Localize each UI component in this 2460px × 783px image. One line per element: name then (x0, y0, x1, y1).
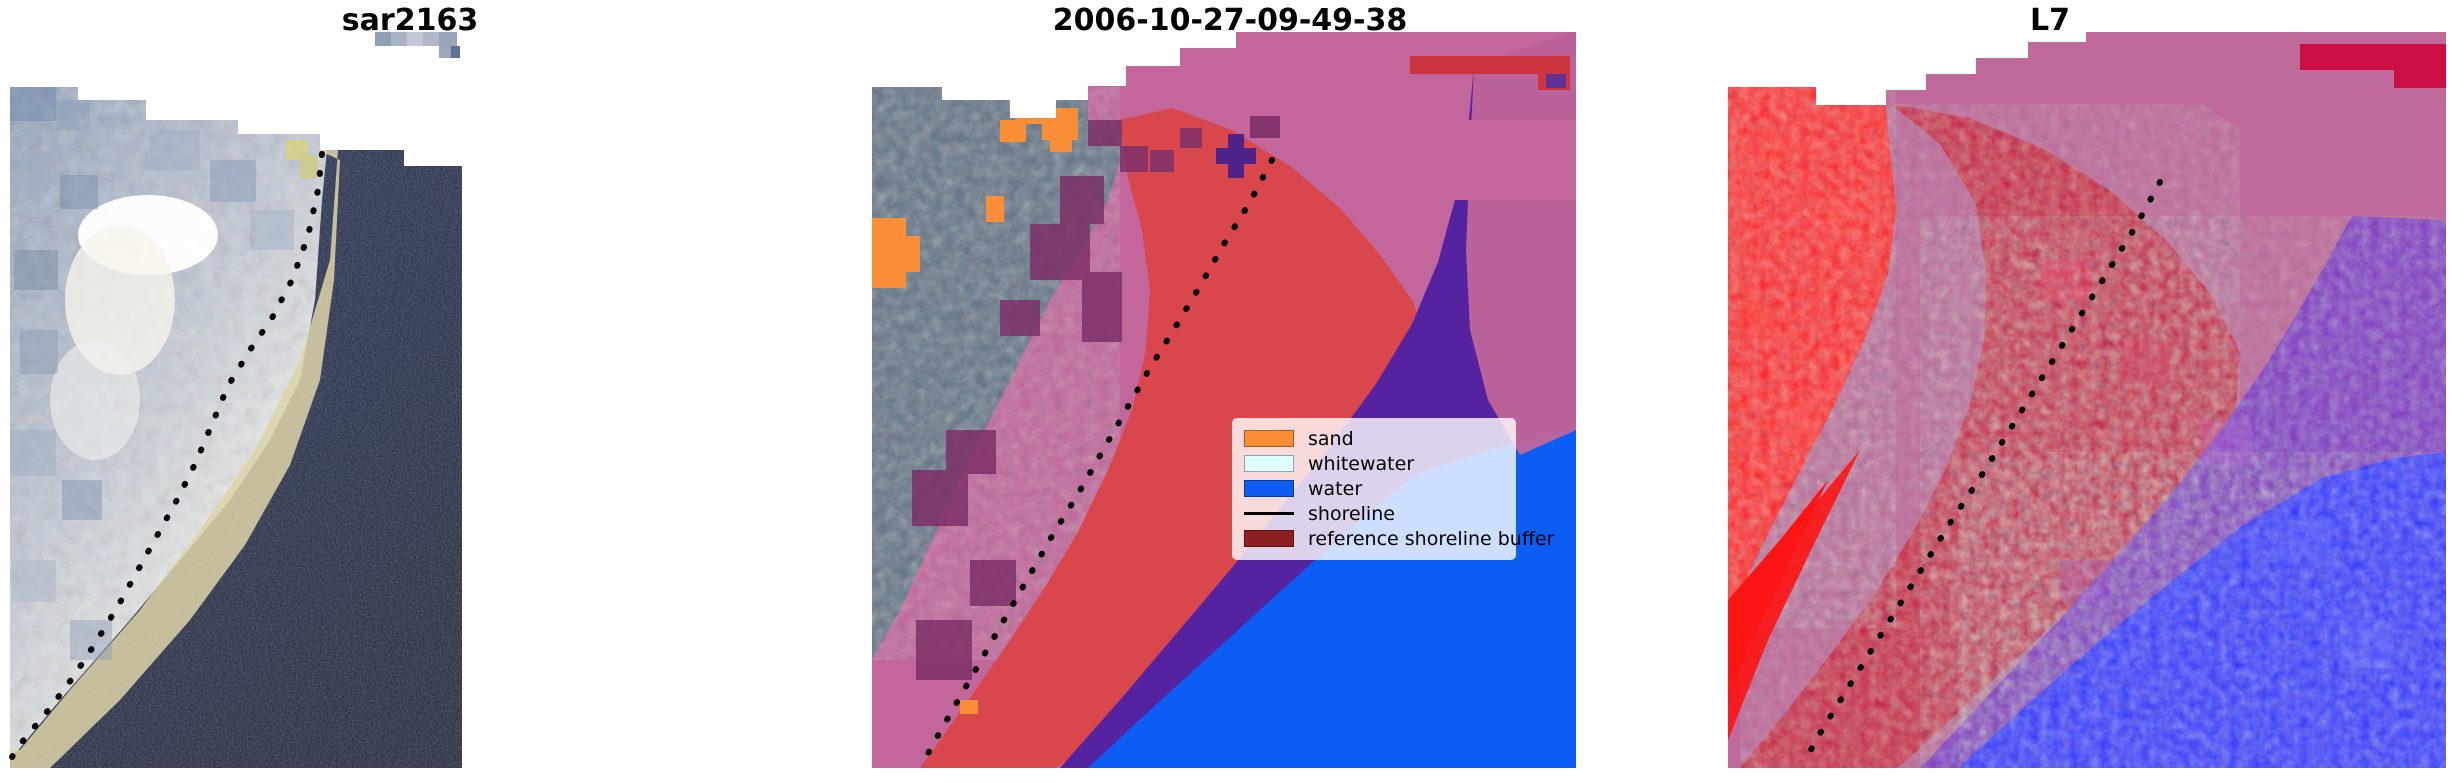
legend-label-water: water (1308, 479, 1362, 499)
legend-item-water: water (1244, 476, 1506, 501)
legend-item-reference-buffer: reference shoreline buffer (1244, 526, 1506, 551)
reference-buffer-swatch-icon (1244, 530, 1294, 547)
whitewater-swatch-icon (1244, 455, 1294, 472)
legend-label-shoreline: shoreline (1308, 504, 1395, 524)
legend-item-shoreline: shoreline (1244, 501, 1506, 526)
classified-image (820, 0, 1640, 783)
l7-composite-panel: L7 (1640, 0, 2460, 783)
sand-swatch-icon (1244, 430, 1294, 447)
classified-overlay-panel: 2006-10-27-09-49-38 (820, 0, 1640, 783)
figure-canvas: sar2163 (0, 0, 2460, 783)
legend-item-sand: sand (1244, 426, 1506, 451)
sar-image (0, 0, 820, 783)
legend-item-whitewater: whitewater (1244, 451, 1506, 476)
legend-label-reference-buffer: reference shoreline buffer (1308, 529, 1554, 549)
legend-label-sand: sand (1308, 429, 1354, 449)
map-legend: sand whitewater water shoreline referenc… (1232, 418, 1516, 560)
l7-image (1640, 0, 2460, 783)
sar-detached-strip (375, 32, 460, 58)
water-swatch-icon (1244, 480, 1294, 497)
sar-rgb-panel: sar2163 (0, 0, 820, 783)
shoreline-line-icon (1244, 505, 1294, 522)
legend-label-whitewater: whitewater (1308, 454, 1414, 474)
